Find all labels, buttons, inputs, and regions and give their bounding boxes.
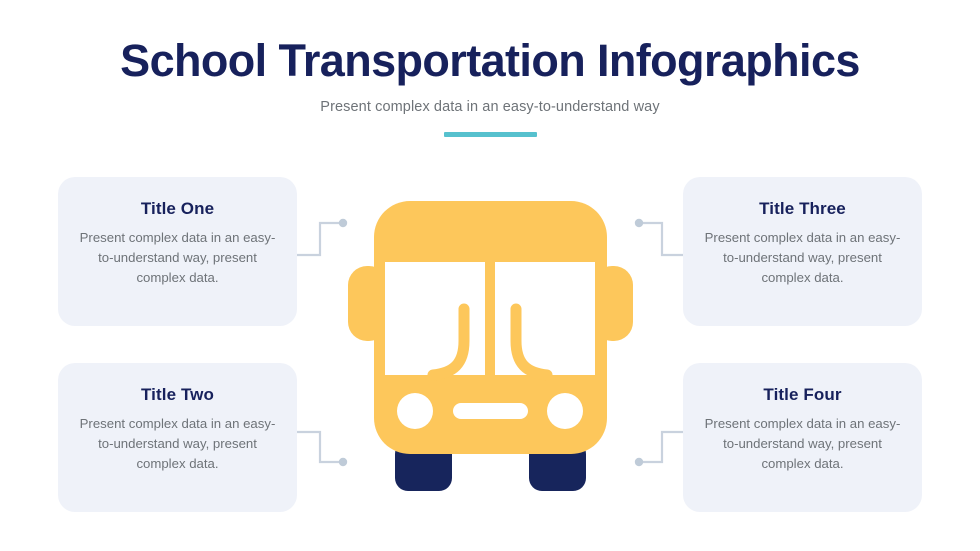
connector-path-two xyxy=(297,432,339,462)
bus-illustration xyxy=(343,196,638,496)
info-card-one-title: Title One xyxy=(74,199,281,219)
info-card-one[interactable]: Title One Present complex data in an eas… xyxy=(58,177,297,326)
info-card-two-body: Present complex data in an easy-to-under… xyxy=(74,414,281,474)
info-card-four-title: Title Four xyxy=(699,385,906,405)
header: School Transportation Infographics Prese… xyxy=(0,36,980,137)
info-card-four[interactable]: Title Four Present complex data in an ea… xyxy=(683,363,922,512)
info-card-one-body: Present complex data in an easy-to-under… xyxy=(74,228,281,288)
page-subtitle: Present complex data in an easy-to-under… xyxy=(0,99,980,115)
connector-path-four xyxy=(644,432,683,462)
accent-divider xyxy=(444,132,537,137)
info-card-four-body: Present complex data in an easy-to-under… xyxy=(699,414,906,474)
page-title: School Transportation Infographics xyxy=(0,36,980,86)
school-bus-front-icon xyxy=(343,196,638,496)
info-card-three[interactable]: Title Three Present complex data in an e… xyxy=(683,177,922,326)
info-card-three-body: Present complex data in an easy-to-under… xyxy=(699,228,906,288)
info-card-two-title: Title Two xyxy=(74,385,281,405)
connector-path-one xyxy=(297,223,339,255)
info-card-three-title: Title Three xyxy=(699,199,906,219)
info-card-two[interactable]: Title Two Present complex data in an eas… xyxy=(58,363,297,512)
connector-path-three xyxy=(644,223,683,255)
infographic-slide: School Transportation Infographics Prese… xyxy=(0,0,980,551)
bus-grille-bar xyxy=(453,403,528,419)
